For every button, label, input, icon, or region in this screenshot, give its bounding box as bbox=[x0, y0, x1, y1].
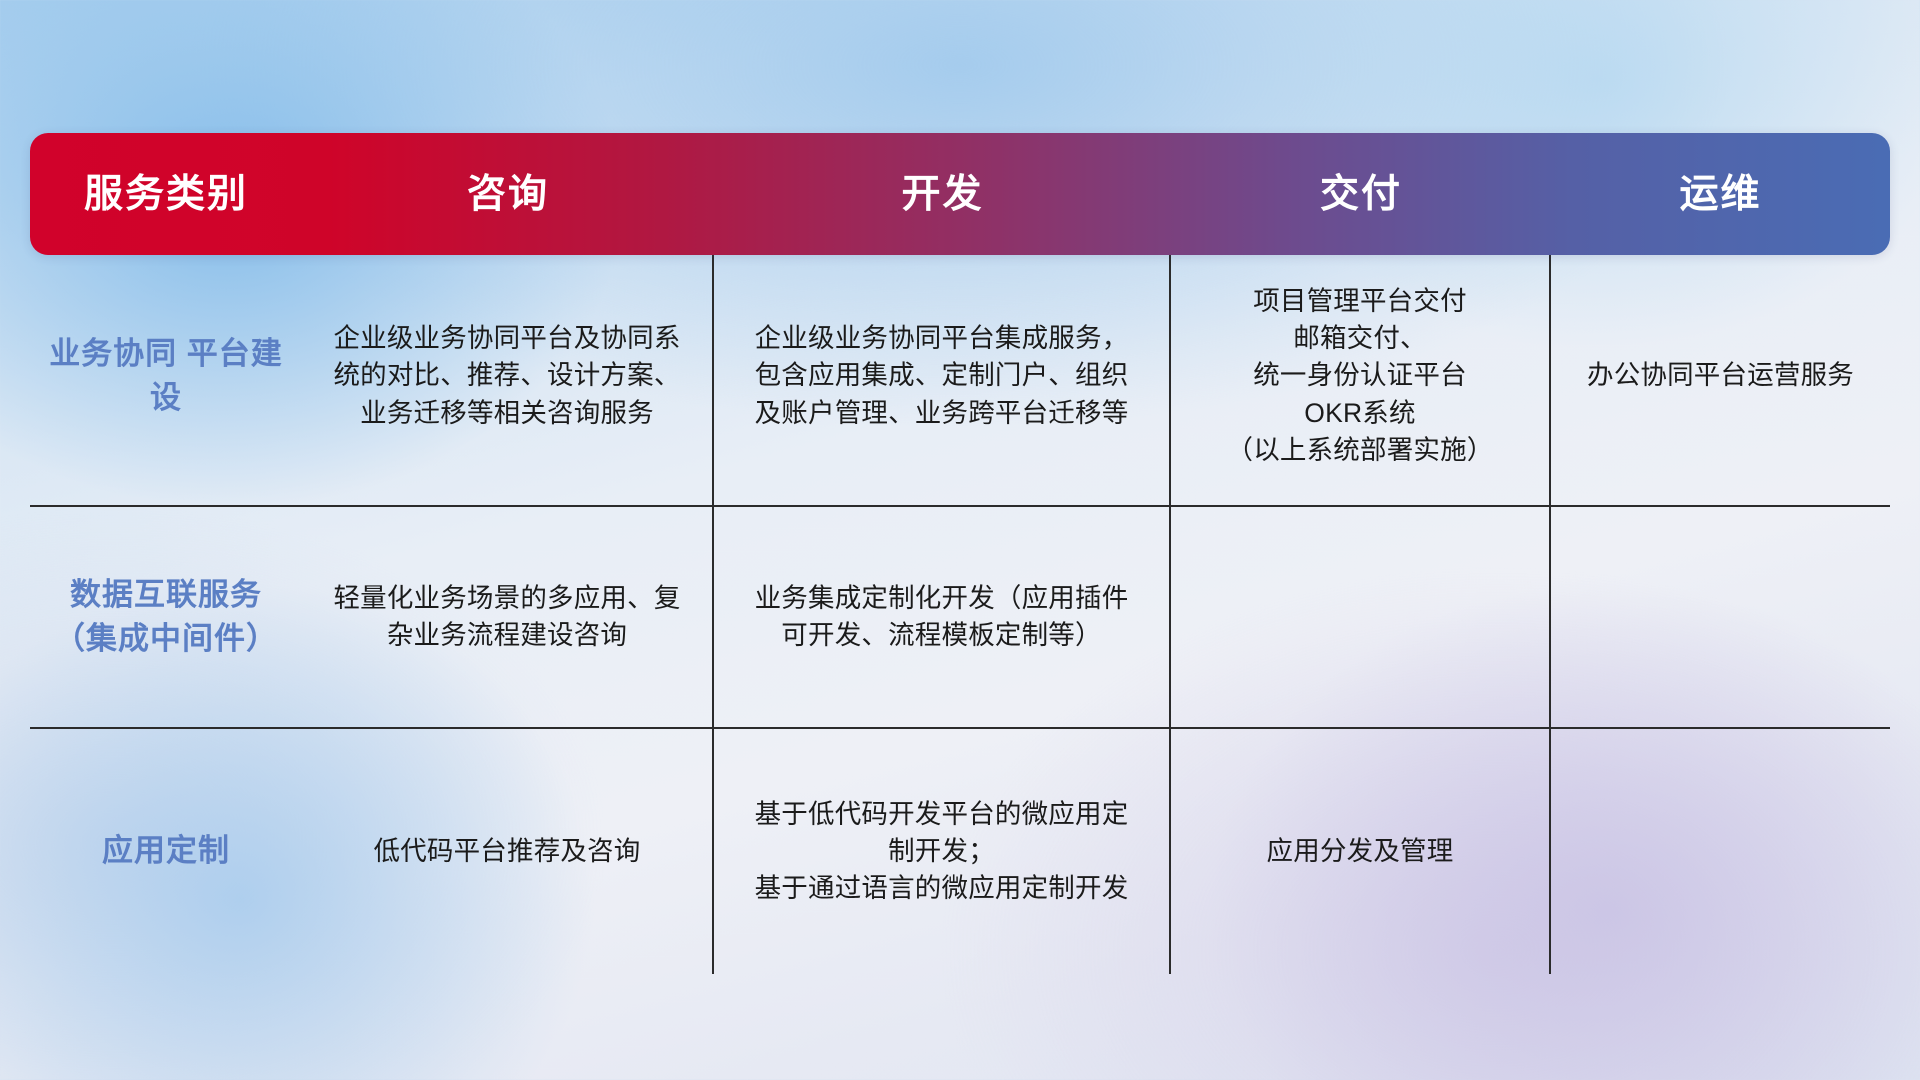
table-header-label: 咨询 bbox=[467, 175, 549, 214]
row-development-cell: 企业级业务协同平台集成服务， 包含应用集成、定制门户、组织 及账户管理、业务跨平… bbox=[714, 247, 1171, 505]
category-label: 应用定制 bbox=[102, 829, 230, 873]
row-consulting-cell: 企业级业务协同平台及协同系 统的对比、推荐、设计方案、 业务迁移等相关咨询服务 bbox=[302, 247, 714, 505]
table-header-label: 开发 bbox=[901, 175, 983, 214]
row-operations-cell bbox=[1551, 729, 1890, 974]
row-delivery-cell: 应用分发及管理 bbox=[1171, 729, 1551, 974]
table-header-label: 运维 bbox=[1679, 175, 1761, 214]
cell-text: 企业级业务协同平台集成服务， 包含应用集成、定制门户、组织 及账户管理、业务跨平… bbox=[755, 320, 1129, 431]
table-header-development: 开发 bbox=[714, 175, 1171, 214]
table-row: 数据互联服务 （集成中间件） 轻量化业务场景的多应用、复 杂业务流程建设咨询 业… bbox=[30, 507, 1890, 729]
cell-text: 基于低代码开发平台的微应用定 制开发； 基于通过语言的微应用定制开发 bbox=[755, 796, 1129, 907]
row-category-cell: 业务协同 平台建设 bbox=[30, 247, 302, 505]
row-consulting-cell: 低代码平台推荐及咨询 bbox=[302, 729, 714, 974]
table-header-consulting: 咨询 bbox=[302, 175, 714, 214]
category-label: 数据互联服务 （集成中间件） bbox=[44, 573, 288, 661]
cell-text: 轻量化业务场景的多应用、复 杂业务流程建设咨询 bbox=[333, 580, 680, 654]
service-matrix-table: 服务类别 咨询 开发 交付 运维 业务协同 平台建设 企业级业务协同平台及协同系… bbox=[30, 133, 1890, 948]
table-header-label: 交付 bbox=[1320, 175, 1402, 214]
cell-text: 企业级业务协同平台及协同系 统的对比、推荐、设计方案、 业务迁移等相关咨询服务 bbox=[333, 320, 680, 431]
cell-text: 低代码平台推荐及咨询 bbox=[374, 833, 641, 870]
row-category-cell: 数据互联服务 （集成中间件） bbox=[30, 507, 302, 727]
row-development-cell: 基于低代码开发平台的微应用定 制开发； 基于通过语言的微应用定制开发 bbox=[714, 729, 1171, 974]
table-row: 业务协同 平台建设 企业级业务协同平台及协同系 统的对比、推荐、设计方案、 业务… bbox=[30, 247, 1890, 507]
row-delivery-cell bbox=[1171, 507, 1551, 727]
cell-text: 项目管理平台交付 邮箱交付、 统一身份认证平台 OKR系统 （以上系统部署实施） bbox=[1227, 283, 1494, 468]
category-label: 业务协同 平台建设 bbox=[44, 332, 288, 420]
table-row: 应用定制 低代码平台推荐及咨询 基于低代码开发平台的微应用定 制开发； 基于通过… bbox=[30, 729, 1890, 974]
cell-text: 办公协同平台运营服务 bbox=[1587, 357, 1854, 394]
table-header-row: 服务类别 咨询 开发 交付 运维 bbox=[30, 133, 1890, 255]
table-header-delivery: 交付 bbox=[1171, 175, 1551, 214]
row-category-cell: 应用定制 bbox=[30, 729, 302, 974]
row-consulting-cell: 轻量化业务场景的多应用、复 杂业务流程建设咨询 bbox=[302, 507, 714, 727]
table-header-label: 服务类别 bbox=[84, 175, 248, 214]
table-header-operations: 运维 bbox=[1551, 175, 1890, 214]
row-operations-cell: 办公协同平台运营服务 bbox=[1551, 247, 1890, 505]
row-development-cell: 业务集成定制化开发（应用插件 可开发、流程模板定制等） bbox=[714, 507, 1171, 727]
cell-text: 业务集成定制化开发（应用插件 可开发、流程模板定制等） bbox=[755, 580, 1129, 654]
row-delivery-cell: 项目管理平台交付 邮箱交付、 统一身份认证平台 OKR系统 （以上系统部署实施） bbox=[1171, 247, 1551, 505]
table-body: 业务协同 平台建设 企业级业务协同平台及协同系 统的对比、推荐、设计方案、 业务… bbox=[30, 247, 1890, 974]
cell-text: 应用分发及管理 bbox=[1267, 833, 1454, 870]
table-header-service-category: 服务类别 bbox=[30, 175, 302, 214]
row-operations-cell bbox=[1551, 507, 1890, 727]
